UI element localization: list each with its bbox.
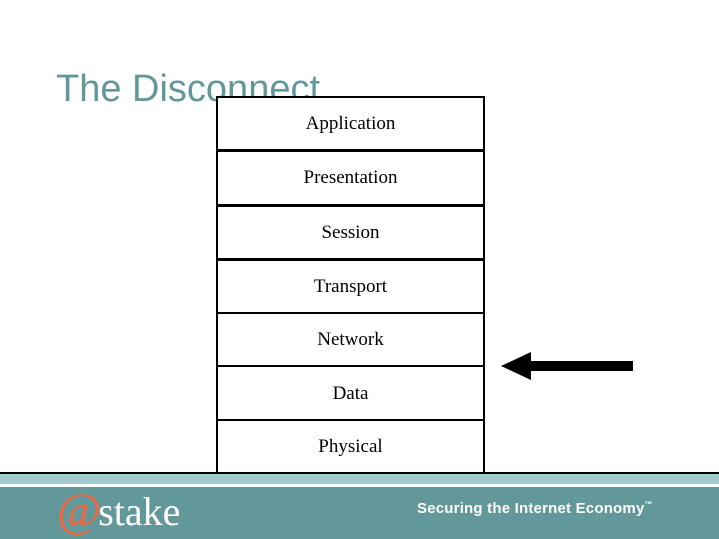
stack-layer-label: Application (306, 114, 396, 133)
footer-tagline-text: Securing the Internet Economy (417, 500, 645, 517)
stack-layer-label: Data (333, 384, 369, 403)
stack-layer-application: Application (218, 98, 483, 152)
stack-layer-label: Network (317, 330, 383, 349)
stack-layer-label: Physical (318, 437, 382, 456)
brand-logo: @ stake (57, 487, 180, 533)
at-symbol-icon: @ (57, 487, 101, 535)
stack-layer-session: Session (218, 207, 483, 261)
stack-layer-network: Network (218, 314, 483, 367)
stack-layer-label: Presentation (304, 168, 398, 187)
stack-layer-label: Transport (314, 277, 387, 296)
stack-layer-physical: Physical (218, 421, 483, 472)
footer-tagline: Securing the Internet Economy™ (417, 500, 653, 517)
stack-layer-presentation: Presentation (218, 152, 483, 206)
brand-name: stake (98, 492, 180, 532)
left-arrow-icon (501, 348, 633, 384)
trademark-mark: ™ (645, 500, 653, 509)
footer-accent-band (0, 474, 719, 484)
slide-canvas: The Disconnect Application Presentation … (0, 0, 719, 539)
stack-layer-label: Session (321, 223, 379, 242)
stack-layer-transport: Transport (218, 261, 483, 314)
stack-layer-data: Data (218, 367, 483, 420)
osi-model-stack: Application Presentation Session Transpo… (216, 96, 485, 474)
